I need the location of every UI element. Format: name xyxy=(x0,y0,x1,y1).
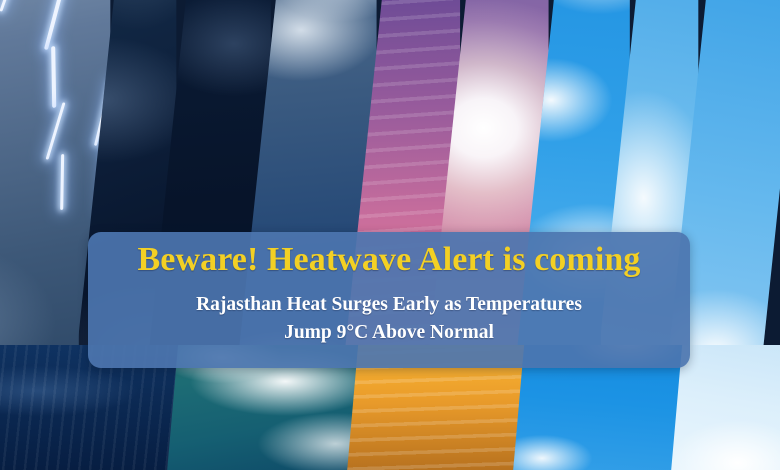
weather-alert-banner: Beware! Heatwave Alert is coming Rajasth… xyxy=(0,0,780,470)
headline: Beware! Heatwave Alert is coming xyxy=(138,241,641,279)
subtitle-line-1: Rajasthan Heat Surges Early as Temperatu… xyxy=(196,291,582,319)
subtitle: Rajasthan Heat Surges Early as Temperatu… xyxy=(196,291,582,346)
subtitle-line-2: Jump 9°C Above Normal xyxy=(196,319,582,347)
alert-text-card: Beware! Heatwave Alert is coming Rajasth… xyxy=(88,232,690,368)
